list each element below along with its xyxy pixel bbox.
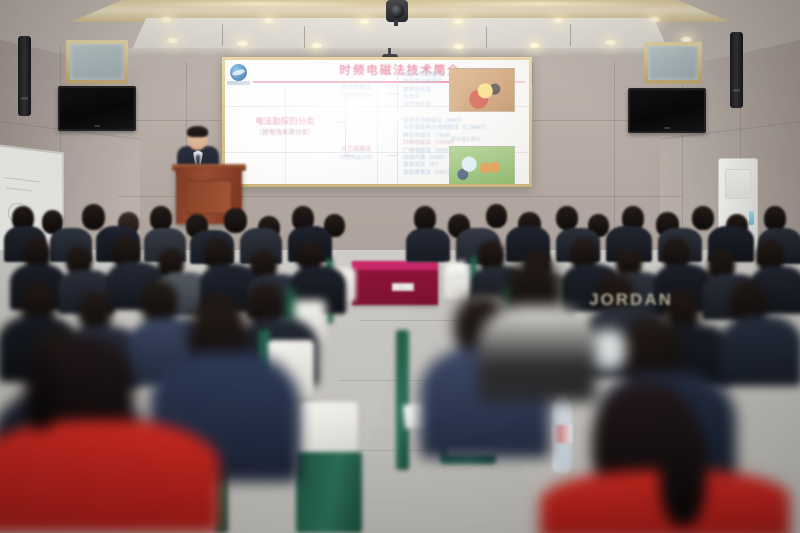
podium-front-panel xyxy=(186,180,232,214)
stage-vent-plate xyxy=(392,283,414,291)
presentation-slide: 时频电磁法技术简介 电法勘探的分类 （按电场来源分类） 天然场源法 （大地电磁法… xyxy=(225,60,529,184)
cove-glow-left xyxy=(140,2,380,6)
wall-seam xyxy=(614,62,615,242)
slide-photo-soil xyxy=(449,68,515,112)
framed-window-right xyxy=(644,42,702,84)
ceiling-cable xyxy=(304,26,305,48)
company-logo-icon xyxy=(230,64,247,81)
ac-indicator-icon xyxy=(749,211,754,225)
slide-leaf-list: 电阻率法剖面法 电阻率法测深法 激发极化法 充电法 自然电位法 xyxy=(403,72,442,109)
tree-connector xyxy=(333,122,345,123)
company-logo-wordmark xyxy=(227,81,250,85)
slide-branch-label: 人工场源法 xyxy=(341,147,371,153)
downlight-icon xyxy=(236,40,249,47)
slide-leaf-item: 可控源音频大地电磁法（CSAMT） xyxy=(403,125,490,132)
whiteboard-scribble xyxy=(4,177,40,182)
downlight-icon xyxy=(160,16,173,23)
slide-branch-node: 天然场源法 （大地电磁法等） xyxy=(325,84,387,100)
slide-leaf-item: 充电法 xyxy=(403,94,442,101)
wall-tv-right xyxy=(628,88,706,133)
downlight-icon xyxy=(528,42,541,49)
downlight-icon xyxy=(648,16,661,23)
downlight-icon xyxy=(452,43,465,50)
line-array-speaker-right xyxy=(730,32,743,108)
slide-branch-sublabel: （大地电磁法等） xyxy=(325,92,387,100)
attendee-body xyxy=(406,228,450,262)
slide-leaf-item: 自然电位法 xyxy=(403,102,442,109)
downlight-icon xyxy=(604,39,617,46)
attendee-head xyxy=(486,204,507,228)
slide-guide-line xyxy=(377,88,378,184)
jordan-jacket-text: JORDAN xyxy=(585,290,677,310)
downlight-icon xyxy=(310,42,323,49)
wall-tv-left xyxy=(58,86,136,131)
ceiling-cable xyxy=(486,26,487,48)
slide-root-sublabel: （按电场来源分类） xyxy=(237,127,333,138)
framed-window-left xyxy=(66,40,128,84)
water-bottle-label xyxy=(552,425,572,443)
ponytail-icon xyxy=(660,414,706,526)
projection-screen: 时频电磁法技术简介 电法勘探的分类 （按电场来源分类） 天然场源法 （大地电磁法… xyxy=(222,57,532,187)
ceiling-lip xyxy=(124,48,676,57)
attendee-head xyxy=(556,206,578,230)
wall-seam xyxy=(682,58,683,248)
ac-grill-icon xyxy=(725,169,751,199)
downlight-icon xyxy=(452,18,465,25)
slide-root-label: 电法勘探的分类 xyxy=(255,116,315,126)
attendee-head xyxy=(82,204,105,230)
slide-photo-grass xyxy=(449,146,515,184)
glasses-icon xyxy=(189,135,206,139)
chair-frame xyxy=(396,330,409,470)
projector-icon xyxy=(386,0,408,22)
attendee-body xyxy=(478,306,596,402)
tree-connector xyxy=(387,93,397,94)
face-mask-icon xyxy=(592,330,626,370)
ceiling-cable xyxy=(222,24,223,46)
downlight-icon xyxy=(262,17,275,24)
ceiling-cable xyxy=(570,24,571,46)
slide-leaf-item: 电阻率法测深法 xyxy=(403,79,442,86)
slide-root-node: 电法勘探的分类 （按电场来源分类） xyxy=(237,116,333,138)
slide-branch-node: 人工场源法 （时频电磁法等） xyxy=(325,146,387,162)
attendee-head xyxy=(692,206,714,230)
chair-seat xyxy=(296,452,362,533)
line-array-speaker-left xyxy=(18,36,31,116)
conference-hall-photo: 时频电磁法技术简介 电法勘探的分类 （按电场来源分类） 天然场源法 （大地电磁法… xyxy=(0,0,800,533)
whiteboard-scribble xyxy=(6,187,32,191)
tree-connector xyxy=(387,155,397,156)
ponytail-icon xyxy=(24,344,58,430)
projector-mount xyxy=(394,20,398,26)
attendee-body xyxy=(720,316,800,386)
downlight-icon xyxy=(166,37,179,44)
tree-connector xyxy=(397,74,398,112)
slide-photo-caption: 野外施工照片 xyxy=(451,136,481,143)
tree-connector xyxy=(397,120,398,184)
downlight-icon xyxy=(358,18,371,25)
red-jacket-attendee xyxy=(0,420,220,533)
wall-seam xyxy=(532,62,533,84)
downlight-icon xyxy=(552,17,565,24)
slide-branch-label: 天然场源法 xyxy=(341,85,371,91)
cove-glow-right xyxy=(420,2,660,6)
slide-branch-sublabel: （时频电磁法等） xyxy=(325,154,387,162)
attendee-head xyxy=(224,208,247,233)
